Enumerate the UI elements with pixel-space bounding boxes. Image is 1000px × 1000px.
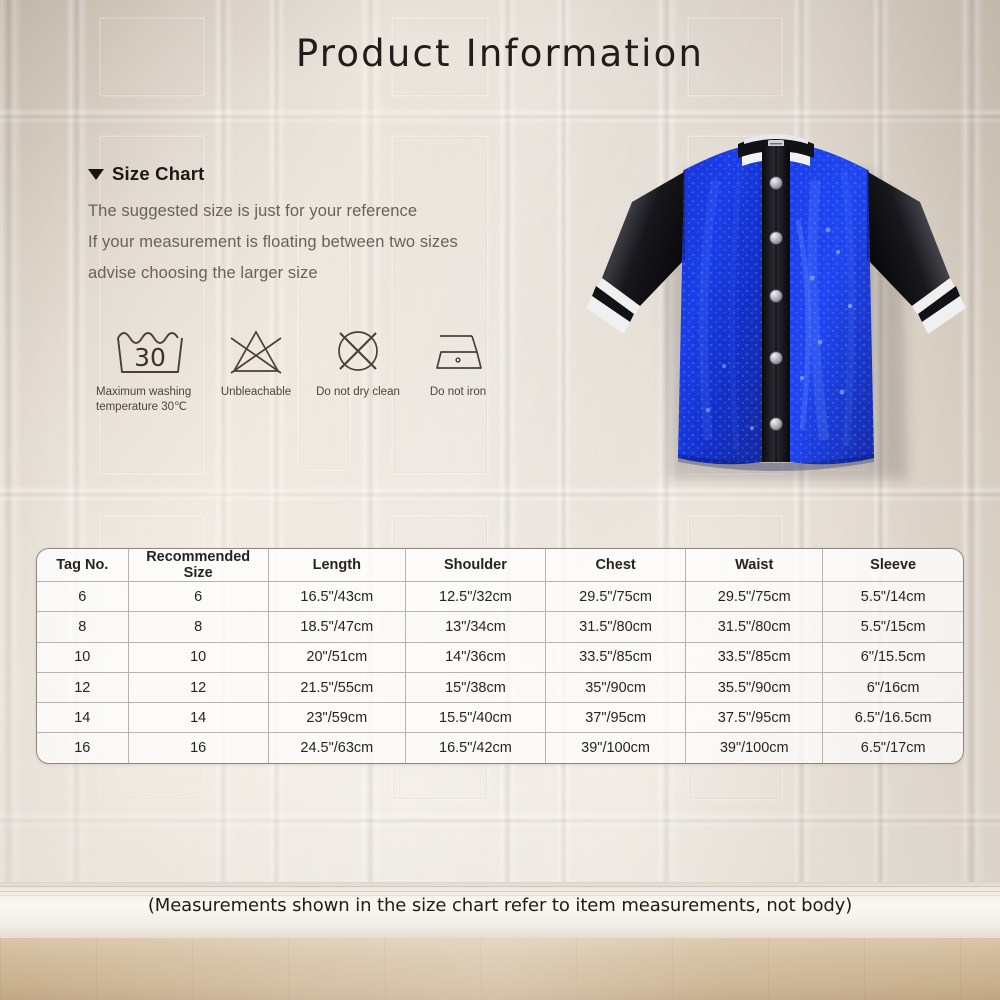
cell-tag-no: 12	[37, 672, 128, 702]
cell-chest: 29.5"/75cm	[546, 582, 686, 612]
wash-tub-30-icon: 30	[112, 326, 188, 376]
cell-shoulder: 12.5"/32cm	[405, 582, 545, 612]
cell-chest: 35"/90cm	[546, 672, 686, 702]
no-bleach-icon	[227, 326, 285, 376]
cell-shoulder: 14"/36cm	[405, 642, 545, 672]
care-symbol-dry-clean: Do not dry clean	[308, 326, 408, 400]
wood-floor	[0, 938, 1000, 1000]
care-symbol-label: Unbleachable	[221, 385, 291, 400]
cell-tag-no: 14	[37, 703, 128, 733]
cell-shoulder: 15"/38cm	[405, 672, 545, 702]
column-header-sleeve: Sleeve	[823, 549, 963, 582]
cell-sleeve: 6.5"/16.5cm	[823, 703, 963, 733]
column-header-chest: Chest	[546, 549, 686, 582]
table-row: 12 12 21.5"/55cm 15"/38cm 35"/90cm 35.5"…	[37, 672, 963, 702]
table-row: 10 10 20"/51cm 14"/36cm 33.5"/85cm 33.5"…	[37, 642, 963, 672]
cell-length: 23"/59cm	[268, 703, 405, 733]
cell-recommended-size: 8	[128, 612, 268, 642]
size-chart-section: Size Chart The suggested size is just fo…	[88, 163, 558, 289]
cell-tag-no: 10	[37, 642, 128, 672]
size-chart-heading-label: Size Chart	[112, 163, 204, 185]
cell-recommended-size: 10	[128, 642, 268, 672]
care-symbol-label: Do not dry clean	[316, 385, 400, 400]
cell-length: 18.5"/47cm	[268, 612, 405, 642]
column-header-tag-no: Tag No.	[37, 549, 128, 582]
cell-recommended-size: 16	[128, 733, 268, 763]
table-header-row: Tag No. Recommended Size Length Shoulder…	[37, 549, 963, 582]
cell-waist: 31.5"/80cm	[686, 612, 823, 642]
cell-sleeve: 6.5"/17cm	[823, 733, 963, 763]
care-symbols-row: 30 Maximum washing temperature 30℃ Unble…	[96, 326, 508, 414]
no-iron-icon	[428, 326, 488, 376]
wall-stile	[360, 0, 382, 922]
cell-chest: 33.5"/85cm	[546, 642, 686, 672]
footer-note: (Measurements shown in the size chart re…	[0, 895, 1000, 916]
size-chart-notes: The suggested size is just for your refe…	[88, 196, 558, 289]
cell-shoulder: 16.5"/42cm	[405, 733, 545, 763]
wall-rail	[0, 812, 1000, 828]
cell-length: 16.5"/43cm	[268, 582, 405, 612]
product-image	[566, 110, 986, 510]
cell-length: 24.5"/63cm	[268, 733, 405, 763]
note-line: The suggested size is just for your refe…	[88, 196, 558, 227]
wall-stile	[214, 0, 234, 922]
caret-down-icon	[88, 169, 104, 180]
cell-recommended-size: 6	[128, 582, 268, 612]
product-information-graphic: Product Information Size Chart The sugge…	[0, 0, 1000, 1000]
page-title: Product Information	[0, 32, 1000, 75]
cell-waist: 33.5"/85cm	[686, 642, 823, 672]
cell-chest: 37"/95cm	[546, 703, 686, 733]
no-dry-clean-icon	[332, 326, 384, 376]
column-header-length: Length	[268, 549, 405, 582]
cell-waist: 37.5"/95cm	[686, 703, 823, 733]
care-symbol-bleach: Unbleachable	[204, 326, 308, 400]
table-row: 14 14 23"/59cm 15.5"/40cm 37"/95cm 37.5"…	[37, 703, 963, 733]
note-line: If your measurement is floating between …	[88, 227, 558, 258]
cell-sleeve: 5.5"/15cm	[823, 612, 963, 642]
cell-sleeve: 6"/15.5cm	[823, 642, 963, 672]
size-chart-table-container: Tag No. Recommended Size Length Shoulder…	[36, 548, 964, 764]
cell-length: 20"/51cm	[268, 642, 405, 672]
cell-recommended-size: 14	[128, 703, 268, 733]
cell-waist: 29.5"/75cm	[686, 582, 823, 612]
cell-chest: 39"/100cm	[546, 733, 686, 763]
cell-length: 21.5"/55cm	[268, 672, 405, 702]
cell-recommended-size: 12	[128, 672, 268, 702]
cell-tag-no: 6	[37, 582, 128, 612]
cell-tag-no: 16	[37, 733, 128, 763]
note-line: advise choosing the larger size	[88, 258, 558, 289]
cell-waist: 39"/100cm	[686, 733, 823, 763]
table-row: 8 8 18.5"/47cm 13"/34cm 31.5"/80cm 31.5"…	[37, 612, 963, 642]
wall-stile	[66, 0, 88, 922]
column-header-shoulder: Shoulder	[405, 549, 545, 582]
care-symbol-label: Maximum washing temperature 30℃	[96, 385, 191, 414]
column-header-waist: Waist	[686, 549, 823, 582]
svg-text:30: 30	[134, 343, 166, 372]
table-row: 16 16 24.5"/63cm 16.5"/42cm 39"/100cm 39…	[37, 733, 963, 763]
cell-waist: 35.5"/90cm	[686, 672, 823, 702]
cell-shoulder: 15.5"/40cm	[405, 703, 545, 733]
table-row: 6 6 16.5"/43cm 12.5"/32cm 29.5"/75cm 29.…	[37, 582, 963, 612]
cell-sleeve: 6"/16cm	[823, 672, 963, 702]
cell-chest: 31.5"/80cm	[546, 612, 686, 642]
wall-stile	[498, 0, 518, 922]
size-chart-table: Tag No. Recommended Size Length Shoulder…	[37, 549, 963, 763]
wall-stile	[268, 0, 286, 922]
care-symbol-wash: 30 Maximum washing temperature 30℃	[96, 326, 204, 414]
cell-sleeve: 5.5"/14cm	[823, 582, 963, 612]
care-symbol-label: Do not iron	[430, 385, 486, 400]
column-header-recommended-size: Recommended Size	[128, 549, 268, 582]
wall-stile	[0, 0, 22, 922]
cell-tag-no: 8	[37, 612, 128, 642]
size-chart-heading: Size Chart	[88, 163, 558, 185]
cell-shoulder: 13"/34cm	[405, 612, 545, 642]
care-symbol-iron: Do not iron	[408, 326, 508, 400]
